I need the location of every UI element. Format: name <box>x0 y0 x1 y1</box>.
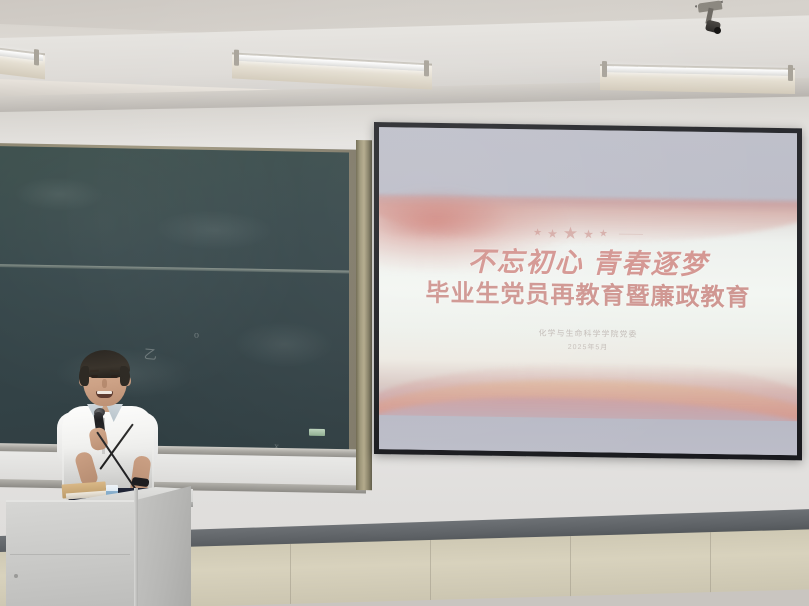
chalk-mark-3: o <box>194 330 199 341</box>
projection-screen-frame: ★ ★ ★ ★ ★ 不忘初心 青春逐梦 毕业生党员再教育暨廉政教育 化学与生命科… <box>374 122 802 460</box>
presentation-slide: ★ ★ ★ ★ ★ 不忘初心 青春逐梦 毕业生党员再教育暨廉政教育 化学与生命科… <box>379 127 797 455</box>
star-icon-3: ★ <box>563 225 578 242</box>
blackboard: 30 乙 v o x <box>0 146 349 455</box>
slide-title: 不忘初心 青春逐梦 <box>468 246 709 281</box>
podium-side-panel <box>136 486 191 606</box>
blackboard-eraser <box>309 429 325 436</box>
ceiling-camera-icon <box>694 2 728 38</box>
slide-organization: 化学与生命科学学院党委 <box>539 327 638 339</box>
fluorescent-tube-3-icon <box>600 64 795 92</box>
podium-seam <box>10 554 130 555</box>
slide-date: 2025年5月 <box>568 342 608 353</box>
slide-content: ★ ★ ★ ★ ★ 不忘初心 青春逐梦 毕业生党员再教育暨廉政教育 化学与生命科… <box>379 127 797 455</box>
podium-knob <box>14 574 18 578</box>
projection-screen: ★ ★ ★ ★ ★ 不忘初心 青春逐梦 毕业生党员再教育暨廉政教育 化学与生命科… <box>379 127 797 455</box>
star-icon-4: ★ <box>583 228 594 240</box>
slide-stars-row: ★ ★ ★ ★ ★ <box>533 224 643 243</box>
wall-mullion <box>356 140 372 490</box>
eye-right <box>111 375 118 378</box>
slide-subtitle: 毕业生党员再教育暨廉政教育 <box>426 280 751 314</box>
hair-side-right <box>120 366 130 386</box>
star-rule-divider <box>619 233 643 235</box>
nose <box>102 379 107 388</box>
fluorescent-tube-1-icon <box>0 47 45 78</box>
lecture-hall-photo: 30 乙 v o x ★ ★ <box>0 0 809 606</box>
podium <box>6 482 191 606</box>
podium-front-panel <box>6 500 138 606</box>
hair-side-left <box>79 366 89 386</box>
eye-left <box>91 375 98 378</box>
blackboard-seam <box>0 264 349 274</box>
star-icon-1: ★ <box>533 228 542 238</box>
star-icon-5: ★ <box>599 229 608 239</box>
star-icon-2: ★ <box>547 227 558 239</box>
podium-edge <box>134 488 138 606</box>
teeth <box>97 391 112 394</box>
